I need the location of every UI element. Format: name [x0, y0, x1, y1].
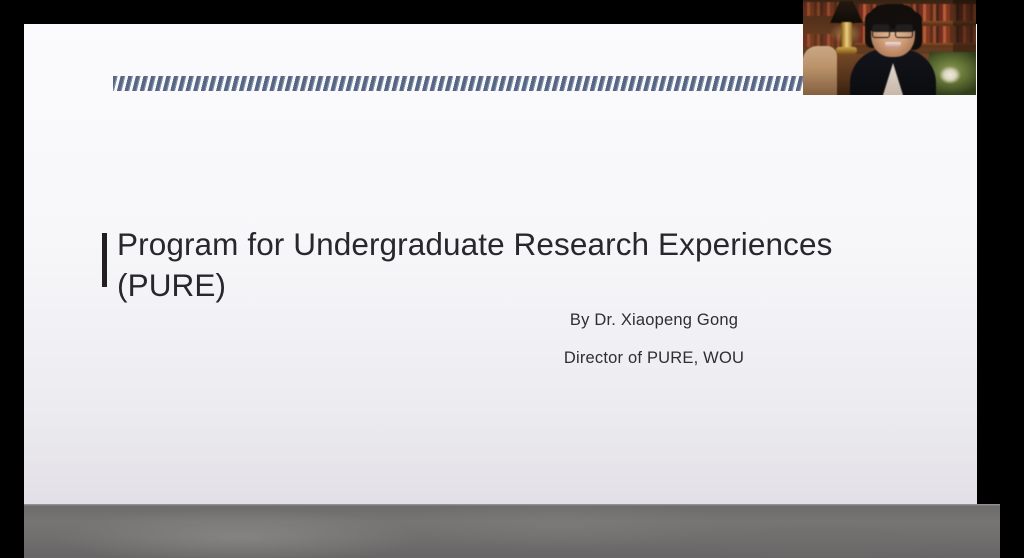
- byline-author: By Dr. Xiaopeng Gong: [454, 312, 854, 329]
- title-accent-bar: [102, 233, 107, 287]
- screen-capture: Program for Undergraduate Research Exper…: [0, 0, 1024, 558]
- desk-surface-band: [24, 506, 1000, 558]
- presenter-video-overlay[interactable]: [803, 0, 976, 95]
- video-soften-overlay: [803, 0, 976, 95]
- slide-title-block: Program for Undergraduate Research Exper…: [102, 224, 932, 306]
- slide-byline-block: By Dr. Xiaopeng Gong Director of PURE, W…: [454, 312, 854, 366]
- presentation-slide: Program for Undergraduate Research Exper…: [24, 24, 977, 506]
- slanted-dashed-rule-decoration: [113, 76, 810, 91]
- byline-role: Director of PURE, WOU: [454, 350, 854, 367]
- page-title: Program for Undergraduate Research Exper…: [117, 224, 932, 306]
